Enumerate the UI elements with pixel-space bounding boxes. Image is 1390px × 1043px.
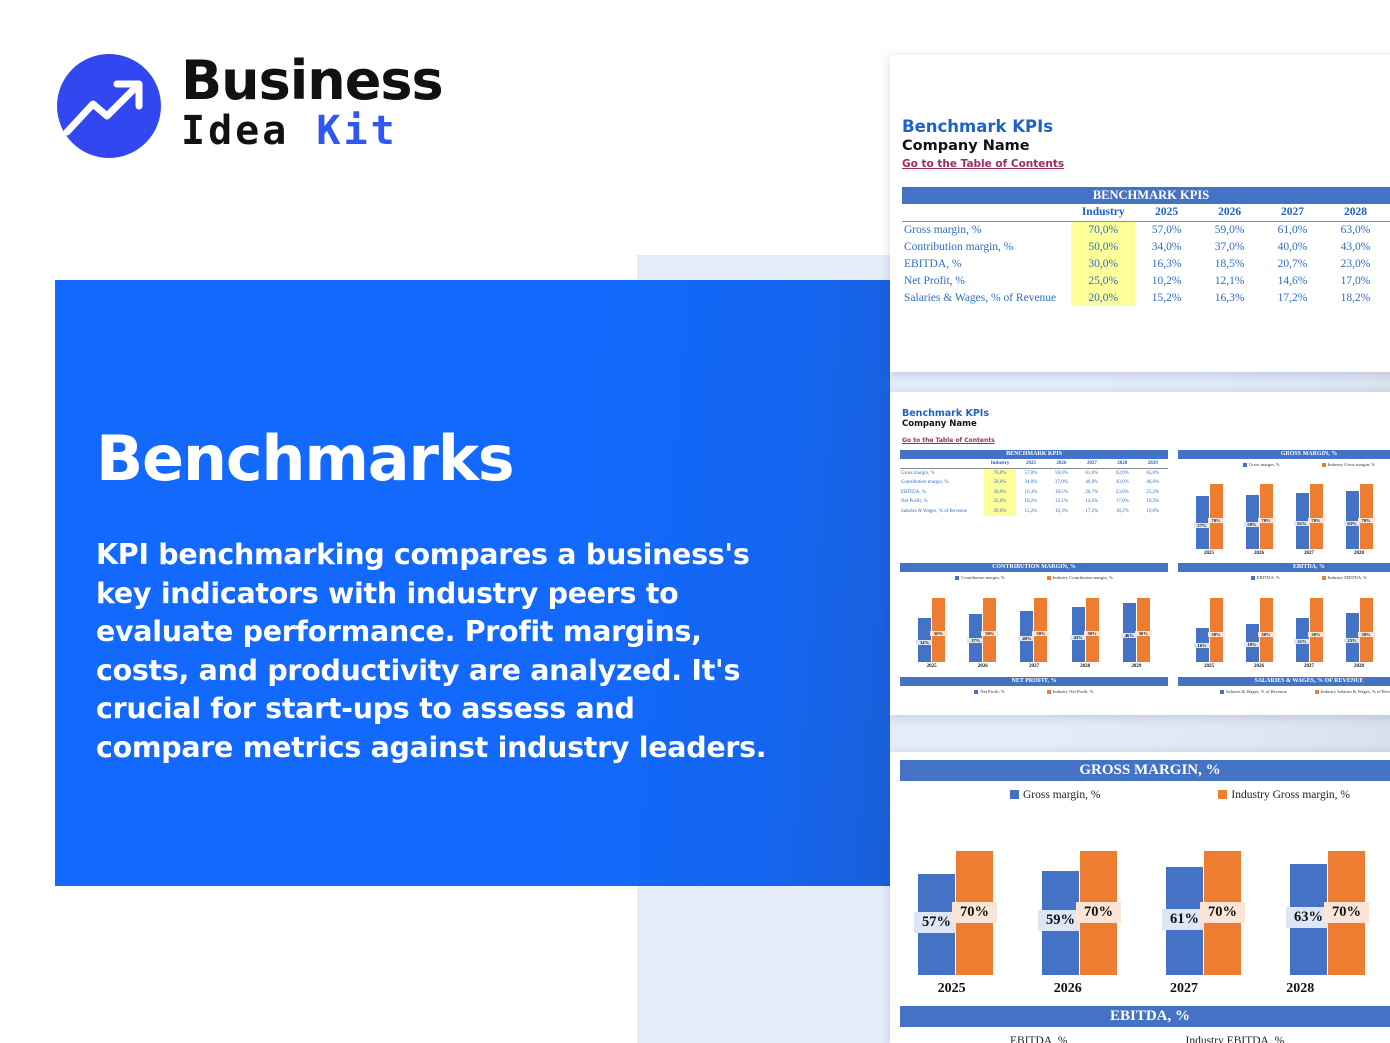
table-row: EBITDA, % 30,0% 16,3% 18,5% 20,7% 23,0% … <box>902 255 1390 272</box>
brand-logo[interactable]: Business Idea Kit <box>55 50 455 162</box>
dash-title: Benchmark KPIs <box>902 408 1390 419</box>
cell-2025: 10,2% <box>1135 272 1198 289</box>
axis-tick-label: 2028 <box>1346 551 1373 556</box>
chart-legend-ebitda: EBITDA, % Industry EBITDA, % <box>900 1035 1390 1043</box>
bar-group: 21%30% <box>1296 598 1323 662</box>
cell-industry: 25,0% <box>1071 272 1135 289</box>
cell-2025: 10,2% <box>1016 497 1046 507</box>
mini-chart-plot: 34%50%37%50%40%50%43%50%46%50% <box>900 584 1168 662</box>
cell-2027: 40,0% <box>1261 238 1324 255</box>
cell-2026: 18,5% <box>1198 255 1261 272</box>
axis-tick-label: 2028 <box>1072 664 1099 669</box>
spreadsheet-preview-table[interactable]: Benchmark KPIs Company Name Go to the Ta… <box>890 55 1390 372</box>
mini-chart-title: NET PROFIT, % <box>900 677 1168 686</box>
row-label: Gross margin, % <box>900 469 984 479</box>
bar-industry: 70% <box>1210 484 1223 549</box>
growth-arrow-icon <box>55 52 163 160</box>
row-label: Contribution margin, % <box>902 238 1071 255</box>
cell-2027: 14,6% <box>1261 272 1324 289</box>
cell-2028: 43,0% <box>1324 238 1387 255</box>
cell-2026: 37,0% <box>1198 238 1261 255</box>
mini-chart-title: EBITDA, % <box>1178 563 1390 572</box>
legend-item-series1: Contribution margin, % <box>955 575 1005 580</box>
cell-2026: 16,3% <box>1046 507 1076 517</box>
cell-2025: 16,3% <box>1135 255 1198 272</box>
mini-chart-legend: Salaries & Wages, % of Revenue Industry … <box>1178 689 1390 694</box>
bar-industry: 70% <box>956 851 993 975</box>
mini-chart-title: CONTRIBUTION MARGIN, % <box>900 563 1168 572</box>
bar-value-label: 70% <box>1200 902 1245 923</box>
cell-2026: 12,1% <box>1046 497 1076 507</box>
bar-value-label: 21% <box>1294 639 1311 644</box>
th-industry: Industry <box>1071 204 1135 221</box>
legend-item-series1: EBITDA, % <box>1251 575 1280 580</box>
bar-value-label: 37% <box>967 638 984 643</box>
cell-2029: 46,0% <box>1138 478 1168 488</box>
table-row: EBITDA, % 30,0% 16,3% 18,5% 20,7% 23,0% … <box>900 488 1168 498</box>
mini-chart-contribution-margin[interactable]: CONTRIBUTION MARGIN, % Contribution marg… <box>900 563 1168 669</box>
axis-tick-label: 2025 <box>1196 664 1223 669</box>
table-row: Gross margin, % 70,0% 57,0% 59,0% 61,0% … <box>902 221 1390 238</box>
brand-line-2: Idea Kit <box>181 108 443 154</box>
table-row: Net Profit, % 25,0% 10,2% 12,1% 14,6% 17… <box>900 497 1168 507</box>
bar-value-label: 23% <box>1344 638 1361 643</box>
cell-industry: 50,0% <box>1071 238 1135 255</box>
cell-industry: 70,0% <box>1071 221 1135 238</box>
th-2028: 2028 <box>1324 204 1387 221</box>
bar-industry: 70% <box>1310 484 1323 549</box>
cell-industry: 30,0% <box>984 488 1015 498</box>
bar-industry: 70% <box>1328 851 1365 975</box>
bar-company: 61% <box>1166 867 1203 975</box>
table-row: Contribution margin, % 50,0% 34,0% 37,0%… <box>900 478 1168 488</box>
bar-industry: 30% <box>1210 598 1223 662</box>
mini-chart-gross-margin[interactable]: GROSS MARGIN, % Gross margin, % Industry… <box>1178 450 1390 556</box>
cell-industry: 20,0% <box>1071 289 1135 306</box>
bar-company: 37% <box>969 614 982 662</box>
table-row: Salaries & Wages, % of Revenue 20,0% 15,… <box>900 507 1168 517</box>
bar-company: 23% <box>1346 613 1359 662</box>
bar-value-label: 70% <box>1308 518 1325 523</box>
table-row: Salaries & Wages, % of Revenue 20,0% 15,… <box>902 289 1390 306</box>
spreadsheet-preview-dashboard[interactable]: Benchmark KPIs Company Name Go to the Ta… <box>890 392 1390 715</box>
axis-tick-label: 2025 <box>918 664 945 669</box>
axis-tick-label: 2027 <box>1020 664 1047 669</box>
bar-industry: 30% <box>1310 598 1323 662</box>
bar-industry: 50% <box>1086 598 1099 662</box>
bar-industry: 50% <box>983 598 996 662</box>
axis-tick-label: 2025 <box>1196 551 1223 556</box>
cell-2026: 59,0% <box>1198 221 1261 238</box>
cell-2027: 17,2% <box>1261 289 1324 306</box>
bar-group: 37%50% <box>969 598 996 662</box>
bar-value-label: 70% <box>1208 518 1225 523</box>
bar-company: 57% <box>918 874 955 975</box>
mini-chart-title: SALARIES & WAGES, % OF REVENUE <box>1178 677 1390 686</box>
axis-tick-label: 2026 <box>1034 981 1101 997</box>
bar-company: 21% <box>1296 618 1309 662</box>
axis-tick-label: 2026 <box>969 664 996 669</box>
bar-group: 34%50% <box>918 598 945 662</box>
mini-chart-axis: 20252026202720282029 <box>900 664 1168 669</box>
legend-item-industry-ebitda: Industry EBITDA, % <box>1186 1035 1285 1043</box>
axis-tick-label: 2026 <box>1246 664 1273 669</box>
th-blank <box>902 204 1071 221</box>
bar-industry: 50% <box>1137 598 1150 662</box>
cell-2027: 20,7% <box>1077 488 1107 498</box>
chart-title-gross-margin: GROSS MARGIN, % <box>900 760 1390 781</box>
cell-2029: 19,0% <box>1138 507 1168 517</box>
bar-value-label: 70% <box>952 902 997 923</box>
row-label: Salaries & Wages, % of Revenue <box>902 289 1071 306</box>
chart-x-axis: 20252026202720282029 <box>900 981 1390 997</box>
cell-industry: 70,0% <box>984 469 1015 479</box>
table-row: Contribution margin, % 50,0% 34,0% 37,0%… <box>902 238 1390 255</box>
cell-2026: 59,0% <box>1046 469 1076 479</box>
mth-2026: 2026 <box>1046 459 1076 469</box>
bar-value-label: 34% <box>916 640 933 645</box>
kpi-table-body: Gross margin, % 70,0% 57,0% 59,0% 61,0% … <box>902 221 1390 306</box>
cell-2029: 25,2% <box>1138 488 1168 498</box>
bar-industry: 50% <box>1034 598 1047 662</box>
slide-canvas: Business Idea Kit Benchmarks KPI benchma… <box>0 0 1390 1043</box>
cell-2027: 14,6% <box>1077 497 1107 507</box>
mini-chart-net-profit[interactable]: NET PROFIT, % Net Profit, % Industry Net… <box>900 677 1168 694</box>
axis-tick-label: 2026 <box>1246 551 1273 556</box>
cell-2028: 63,0% <box>1107 469 1137 479</box>
bar-value-label: 57% <box>1194 523 1211 528</box>
bar-value-label: 30% <box>1358 632 1375 637</box>
bar-group: 63%70% <box>1290 851 1365 975</box>
cell-2028: 17,0% <box>1324 272 1387 289</box>
row-label: Salaries & Wages, % of Revenue <box>900 507 984 517</box>
brand-wordmark: Business Idea Kit <box>181 52 443 154</box>
bar-group: 43%50% <box>1072 598 1099 662</box>
bar-group: 57%70% <box>1196 484 1223 549</box>
bar-value-label: 16% <box>1194 643 1211 648</box>
bar-company: 63% <box>1290 864 1327 975</box>
cell-2025: 57,0% <box>1016 469 1046 479</box>
table-header-row: Industry 2025 2026 2027 2028 2029 <box>902 204 1390 221</box>
cell-2025: 15,2% <box>1135 289 1198 306</box>
cell-industry: 50,0% <box>984 478 1015 488</box>
mini-chart-plot: 57%70%59%70%61%70%63%70%65%70% <box>1178 471 1390 549</box>
brand-line-1: Business <box>181 52 443 110</box>
bar-group: 59%70% <box>1246 484 1273 549</box>
bar-group: 16%30% <box>1196 598 1223 662</box>
th-2025: 2025 <box>1135 204 1198 221</box>
row-label: Contribution margin, % <box>900 478 984 488</box>
cell-2028: 23,0% <box>1324 255 1387 272</box>
bar-group: 57%70% <box>918 851 993 975</box>
bar-value-label: 30% <box>1208 632 1225 637</box>
axis-tick-label: 2028 <box>1346 664 1373 669</box>
mini-chart-axis: 20252026202720282029 <box>1178 664 1390 669</box>
th-2026: 2026 <box>1198 204 1261 221</box>
mth-2028: 2028 <box>1107 459 1137 469</box>
bar-industry: 70% <box>1204 851 1241 975</box>
mini-kpi-table: Industry 2025 2026 2027 2028 2029 Gross … <box>900 459 1168 516</box>
cell-2025: 15,2% <box>1016 507 1046 517</box>
cell-2027: 61,0% <box>1077 469 1107 479</box>
mini-chart-title: GROSS MARGIN, % <box>1178 450 1390 459</box>
mth-blank <box>900 459 984 469</box>
legend-item-series2: Industry EBITDA, % <box>1322 575 1367 580</box>
bar-group: 61%70% <box>1166 851 1241 975</box>
cell-2025: 57,0% <box>1135 221 1198 238</box>
legend-item-gross-margin: Gross margin, % <box>1010 789 1100 801</box>
mth-2025: 2025 <box>1016 459 1046 469</box>
bar-group: 46%50% <box>1123 598 1150 662</box>
cell-2026: 37,0% <box>1046 478 1076 488</box>
mini-chart-legend: EBITDA, % Industry EBITDA, % <box>1178 575 1390 580</box>
row-label: Net Profit, % <box>900 497 984 507</box>
legend-item-series2: Industry Contribution margin, % <box>1047 575 1113 580</box>
legend-item-ebitda: EBITDA, % <box>1010 1035 1068 1043</box>
axis-tick-label: 2027 <box>1296 664 1323 669</box>
kpi-table: Industry 2025 2026 2027 2028 2029 Gross … <box>902 204 1390 306</box>
legend-item-series1: Gross margin, % <box>1243 462 1280 467</box>
row-label: Gross margin, % <box>902 221 1071 238</box>
bar-value-label: 18% <box>1244 642 1261 647</box>
table-of-contents-link[interactable]: Go to the Table of Contents <box>902 158 1064 170</box>
bar-value-label: 70% <box>1324 902 1369 923</box>
bar-value-label: 40% <box>1018 636 1035 641</box>
sheet-title: Benchmark KPIs <box>902 117 1390 136</box>
brand-kit-text: Kit <box>316 108 397 154</box>
mini-header-row: Industry 2025 2026 2027 2028 2029 <box>900 459 1168 469</box>
legend-item-series2: Industry Salaries & Wages, % of Revenue <box>1315 689 1390 694</box>
bar-value-label: 50% <box>981 631 998 636</box>
mth-industry: Industry <box>984 459 1015 469</box>
bar-company: 59% <box>1042 871 1079 975</box>
mth-2029: 2029 <box>1138 459 1168 469</box>
cell-2028: 17,0% <box>1107 497 1137 507</box>
bar-group: 61%70% <box>1296 484 1323 549</box>
mini-chart-salaries-wages[interactable]: SALARIES & WAGES, % OF REVENUE Salaries … <box>1178 677 1390 694</box>
cell-2028: 18,2% <box>1107 507 1137 517</box>
bar-value-label: 50% <box>930 631 947 636</box>
cell-2026: 12,1% <box>1198 272 1261 289</box>
bar-value-label: 70% <box>1358 518 1375 523</box>
mini-kpi-table-block: BENCHMARK KPIS Industry 2025 2026 2027 2… <box>900 450 1168 516</box>
bar-value-label: 30% <box>1308 632 1325 637</box>
bar-value-label: 50% <box>1032 631 1049 636</box>
cell-2027: 61,0% <box>1261 221 1324 238</box>
row-label: EBITDA, % <box>902 255 1071 272</box>
bar-group: 40%50% <box>1020 598 1047 662</box>
cell-2029: 65,0% <box>1138 469 1168 479</box>
dash-subtitle: Company Name <box>902 419 1390 429</box>
bar-group: 59%70% <box>1042 851 1117 975</box>
axis-tick-label: 2028 <box>1267 981 1334 997</box>
bar-industry: 50% <box>932 598 945 662</box>
cell-industry: 25,0% <box>984 497 1015 507</box>
mini-table-body: Gross margin, % 70,0% 57,0% 59,0% 61,0% … <box>900 469 1168 517</box>
bar-value-label: 50% <box>1084 631 1101 636</box>
table-row: Net Profit, % 25,0% 10,2% 12,1% 14,6% 17… <box>902 272 1390 289</box>
bar-industry: 70% <box>1080 851 1117 975</box>
page-title: Benchmarks <box>96 424 776 494</box>
legend-item-industry-gross-margin: Industry Gross margin, % <box>1218 789 1350 801</box>
bar-value-label: 70% <box>1076 902 1121 923</box>
table-row: Gross margin, % 70,0% 57,0% 59,0% 61,0% … <box>900 469 1168 479</box>
bar-group: 18%30% <box>1246 598 1273 662</box>
bar-company: 18% <box>1246 624 1259 662</box>
axis-tick-label: 2029 <box>1123 664 1150 669</box>
th-2027: 2027 <box>1261 204 1324 221</box>
hero-description: KPI benchmarking compares a business's k… <box>96 536 776 767</box>
row-label: EBITDA, % <box>900 488 984 498</box>
bar-value-label: 70% <box>1258 518 1275 523</box>
spreadsheet-preview-chart[interactable]: GROSS MARGIN, % Gross margin, % Industry… <box>890 752 1390 1043</box>
sheet-subtitle: Company Name <box>902 138 1390 154</box>
bar-group: 63%70% <box>1346 484 1373 549</box>
cell-2025: 34,0% <box>1135 238 1198 255</box>
cell-2028: 43,0% <box>1107 478 1137 488</box>
chart-title-ebitda: EBITDA, % <box>900 1006 1390 1027</box>
bar-value-label: 30% <box>1258 632 1275 637</box>
table-band-title: BENCHMARK KPIS <box>902 187 1390 204</box>
mini-table-band: BENCHMARK KPIS <box>900 450 1168 459</box>
mini-chart-axis: 20252026202720282029 <box>1178 551 1390 556</box>
cell-2025: 16,3% <box>1016 488 1046 498</box>
cell-2027: 20,7% <box>1261 255 1324 272</box>
legend-item-series1: Salaries & Wages, % of Revenue <box>1220 689 1287 694</box>
bar-industry: 30% <box>1360 598 1373 662</box>
cell-2025: 34,0% <box>1016 478 1046 488</box>
mini-chart-legend: Gross margin, % Industry Gross margin, % <box>1178 462 1390 467</box>
mini-chart-legend: Contribution margin, % Industry Contribu… <box>900 575 1168 580</box>
bar-industry: 70% <box>1360 484 1373 549</box>
mth-2027: 2027 <box>1077 459 1107 469</box>
dash-toc-link[interactable]: Go to the Table of Contents <box>902 437 995 444</box>
axis-tick-label: 2027 <box>1150 981 1217 997</box>
axis-tick-label: 2025 <box>918 981 985 997</box>
chart-legend: Gross margin, % Industry Gross margin, % <box>900 789 1390 801</box>
mini-chart-ebitda[interactable]: EBITDA, % EBITDA, % Industry EBITDA, % 1… <box>1178 563 1390 669</box>
cell-2027: 40,0% <box>1077 478 1107 488</box>
cell-2028: 18,2% <box>1324 289 1387 306</box>
cell-2028: 23,0% <box>1107 488 1137 498</box>
cell-2028: 63,0% <box>1324 221 1387 238</box>
bar-group: 23%30% <box>1346 598 1373 662</box>
axis-tick-label: 2027 <box>1296 551 1323 556</box>
bar-value-label: 50% <box>1135 631 1152 636</box>
mini-chart-plot: 16%30%18%30%21%30%23%30%25%30% <box>1178 584 1390 662</box>
bar-industry: 70% <box>1260 484 1273 549</box>
cell-industry: 20,0% <box>984 507 1015 517</box>
bar-industry: 30% <box>1260 598 1273 662</box>
axis-tick-label: 2029 <box>1383 981 1390 997</box>
hero-text-block: Benchmarks KPI benchmarking compares a b… <box>96 424 776 767</box>
chart-plot-area: 57%70%59%70%61%70%63%70%65%70% <box>900 827 1390 975</box>
brand-idea-text: Idea <box>181 108 316 154</box>
mini-chart-legend: Net Profit, % Industry Net Profit, % <box>900 689 1168 694</box>
cell-2029: 19,3% <box>1138 497 1168 507</box>
legend-item-series1: Net Profit, % <box>974 689 1004 694</box>
cell-2027: 17,2% <box>1077 507 1107 517</box>
bar-company: 34% <box>918 618 931 662</box>
legend-item-series2: Industry Net Profit, % <box>1047 689 1094 694</box>
row-label: Net Profit, % <box>902 272 1071 289</box>
legend-item-series2: Industry Gross margin, % <box>1322 462 1375 467</box>
cell-industry: 30,0% <box>1071 255 1135 272</box>
cell-2026: 18,5% <box>1046 488 1076 498</box>
cell-2026: 16,3% <box>1198 289 1261 306</box>
